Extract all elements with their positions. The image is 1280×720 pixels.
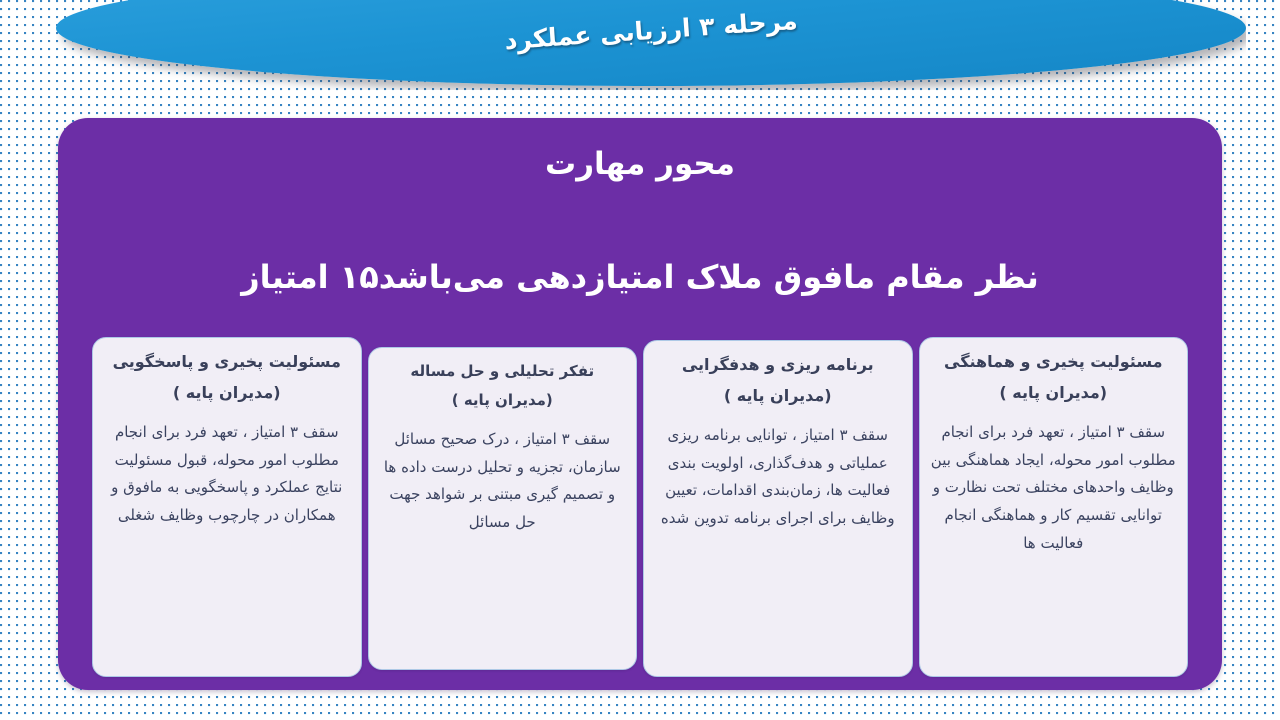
header-banner: مرحله ۳ ارزیابی عملکرد: [56, 0, 1246, 90]
skill-cards-row: مسئولیت پخیری و هماهنگی (مدیران پایه ) س…: [70, 337, 1210, 682]
skill-card-subtitle: (مدیران پایه ): [999, 381, 1107, 405]
main-purple-panel: محور مهارت نظر مقام مافوق ملاک امتیازدهی…: [58, 118, 1222, 690]
skill-card-subtitle: (مدیران پایه ): [173, 381, 281, 405]
skill-card-body: سقف ۳ امتیاز ، توانایی برنامه ریزی عملیا…: [654, 422, 902, 533]
banner-clip: مرحله ۳ ارزیابی عملکرد: [56, 0, 1246, 90]
skill-card-body: سقف ۳ امتیاز ، تعهد فرد برای انجام مطلوب…: [103, 419, 351, 530]
banner-ellipse-shape: [56, 0, 1246, 86]
skill-card-subtitle: (مدیران پایه ): [724, 384, 832, 408]
skill-card-title: مسئولیت پخیری و هماهنگی: [944, 350, 1163, 375]
skill-card[interactable]: مسئولیت پخیری و هماهنگی (مدیران پایه ) س…: [919, 337, 1189, 677]
skill-card-title: تفکر تحلیلی و حل مساله: [410, 360, 594, 383]
slide-stage-title: مرحله ۳ ارزیابی عملکرد: [56, 0, 1245, 86]
skill-card-title: برنامه ریزی و هدفگرایی: [682, 353, 874, 378]
skill-card[interactable]: مسئولیت پخیری و پاسخگویی (مدیران پایه ) …: [92, 337, 362, 677]
panel-title: محور مهارت: [58, 146, 1222, 182]
skill-card-subtitle: (مدیران پایه ): [452, 389, 553, 412]
panel-subtitle: نظر مقام مافوق ملاک امتیازدهی می‌باشد۱۵ …: [58, 258, 1222, 296]
skill-card[interactable]: تفکر تحلیلی و حل مساله (مدیران پایه ) سق…: [368, 347, 638, 670]
skill-card-title: مسئولیت پخیری و پاسخگویی: [113, 350, 341, 375]
skill-card[interactable]: برنامه ریزی و هدفگرایی (مدیران پایه ) سق…: [643, 340, 913, 677]
skill-card-body: سقف ۳ امتیاز ، درک صحیح مسائل سازمان، تج…: [379, 426, 627, 537]
skill-card-body: سقف ۳ امتیاز ، تعهد فرد برای انجام مطلوب…: [930, 419, 1178, 558]
